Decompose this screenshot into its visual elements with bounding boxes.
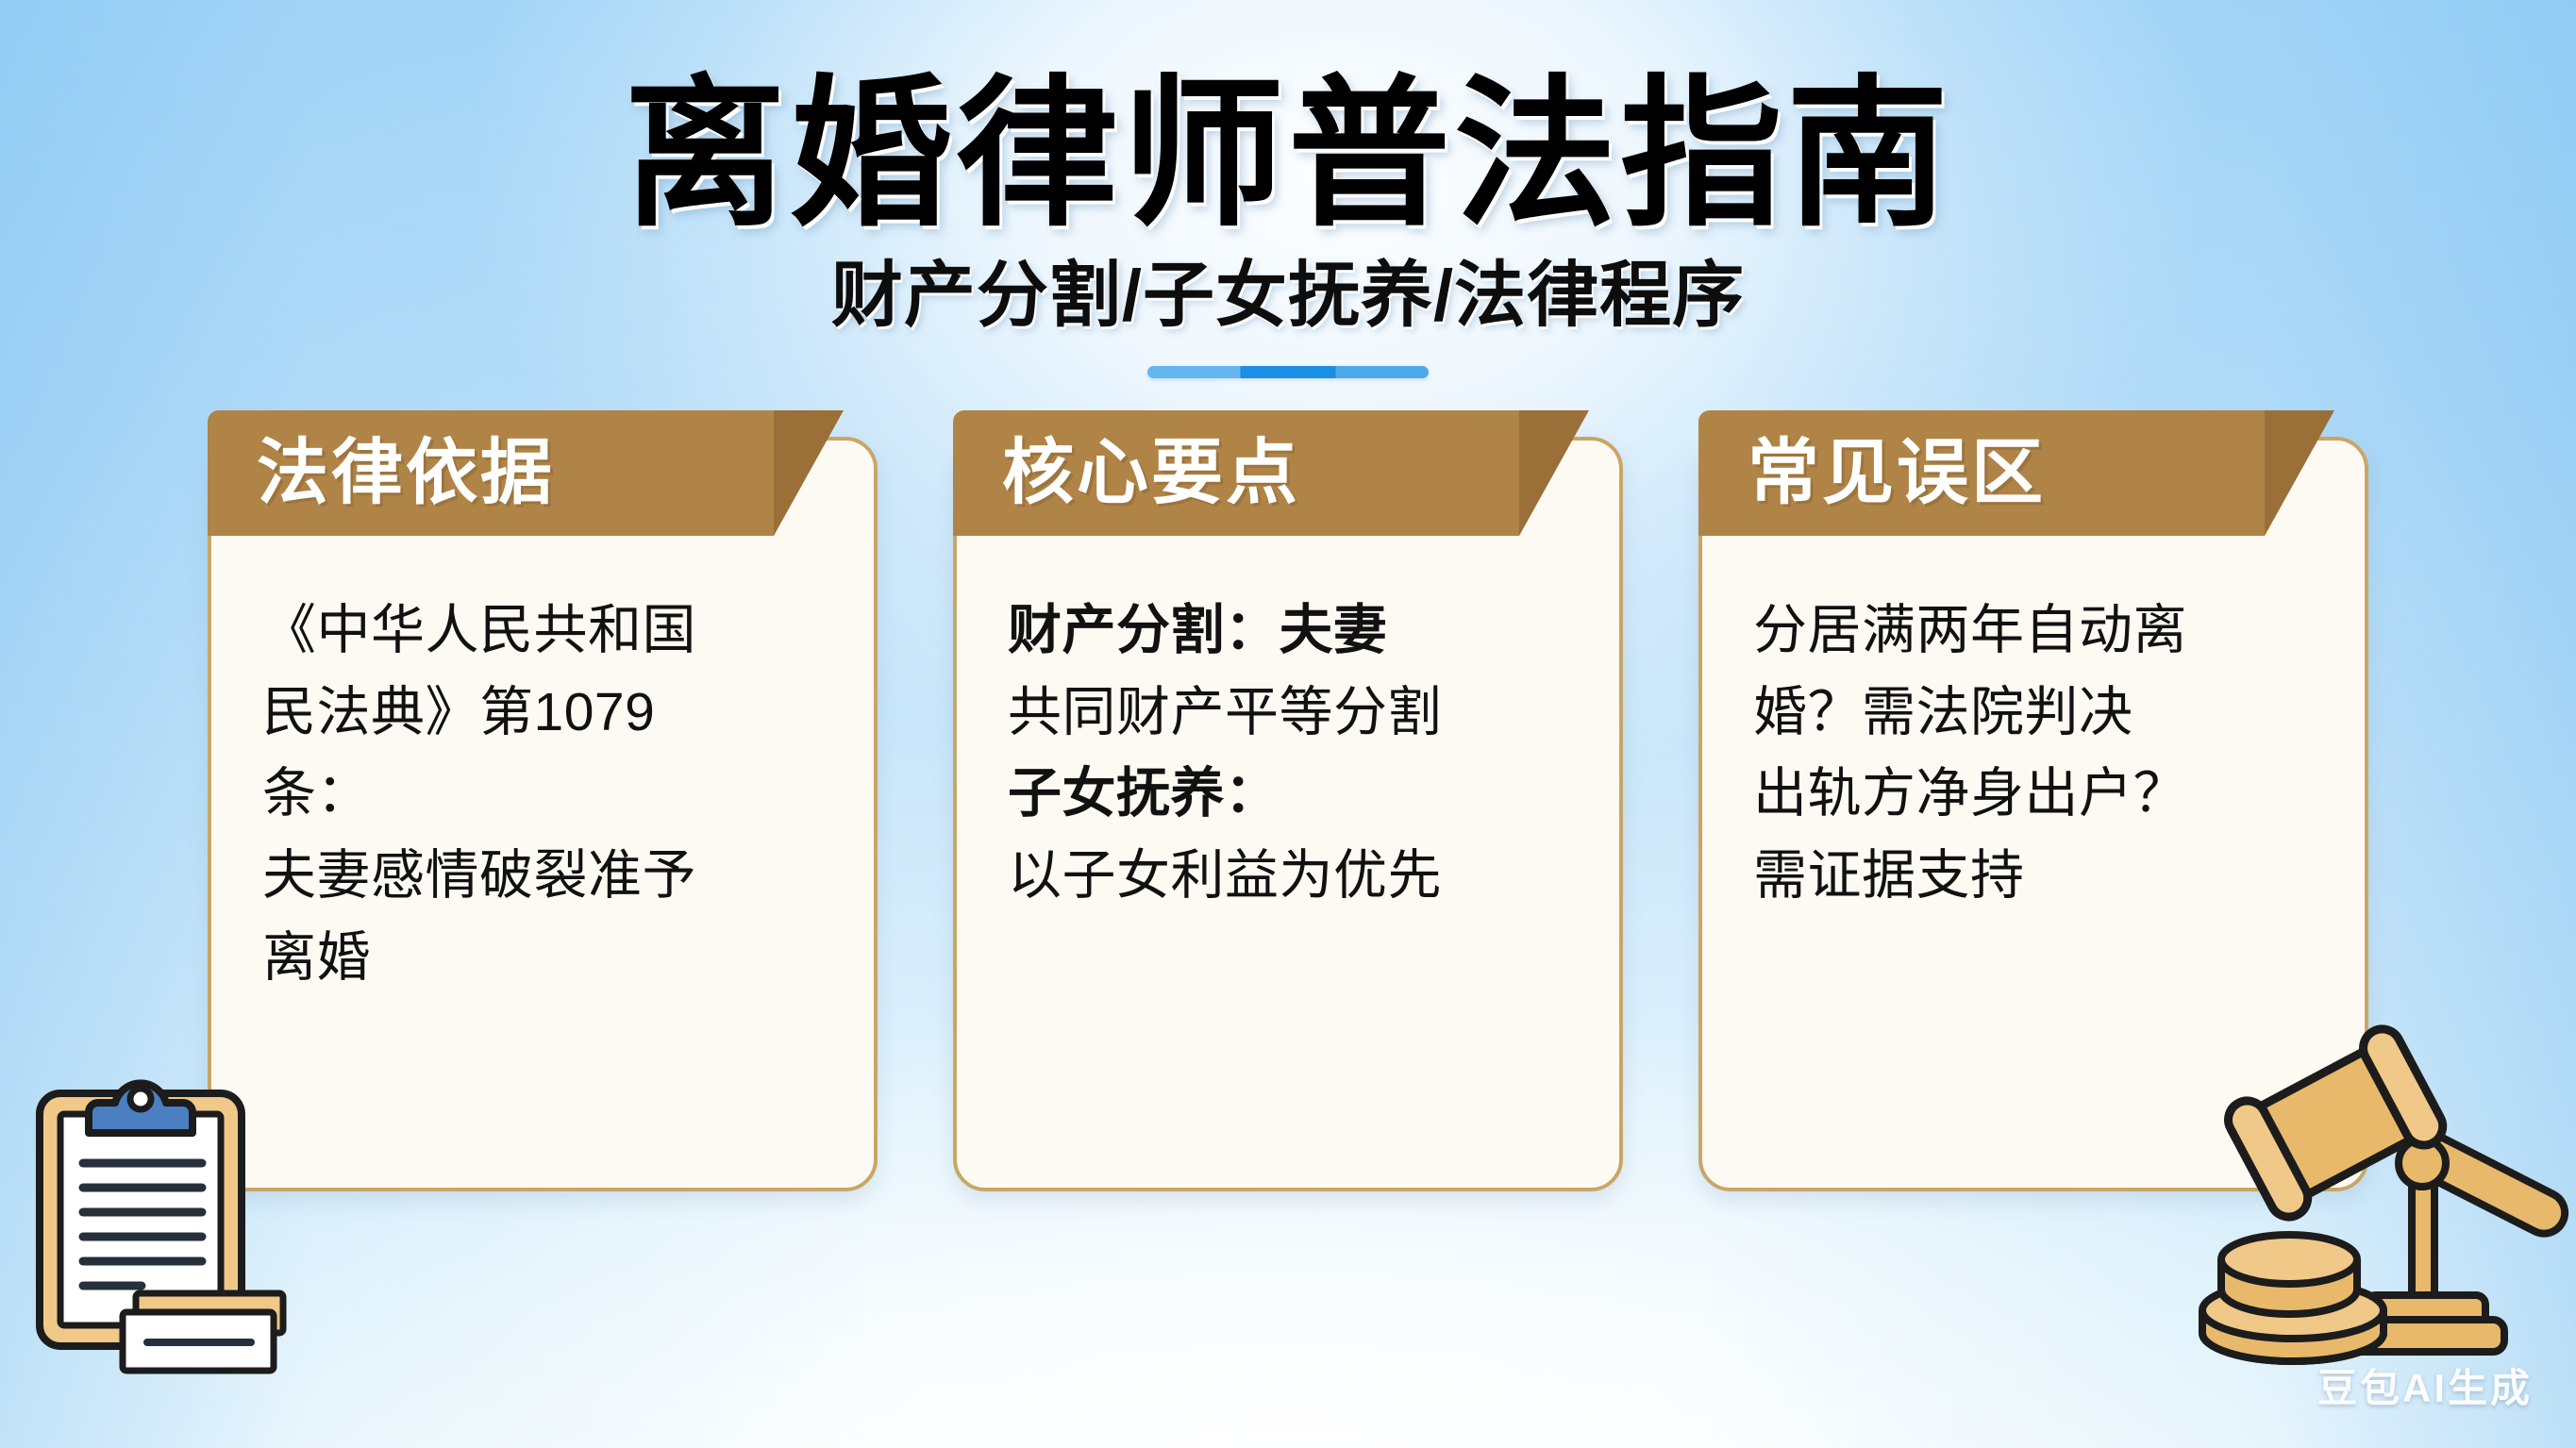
card-header-misconceptions: 常见误区 <box>1698 410 2265 536</box>
card-line: 条： <box>262 753 832 835</box>
card-line: 夫妻感情破裂准予 <box>262 835 832 917</box>
card-line: 民法典》第1079 <box>262 672 832 754</box>
judge-gavel-icon <box>2191 1012 2570 1390</box>
watermark-label: 豆包AI生成 <box>2317 1356 2533 1414</box>
clipboard-document-icon <box>25 1061 308 1393</box>
card-line: 分居满两年自动离 <box>1753 590 2323 672</box>
info-card-legal-basis[interactable]: 法律依据 《中华人民共和国 民法典》第1079 条： 夫妻感情破裂准予 离婚 <box>208 437 878 1191</box>
card-line: 出轨方净身出户？ <box>1753 753 2323 835</box>
card-line: 财产分割：夫妻 <box>1008 590 1578 672</box>
card-line: 共同财产平等分割 <box>1008 672 1578 754</box>
info-card-core-points[interactable]: 核心要点 财产分割：夫妻 共同财产平等分割 子女抚养： 以子女利益为优先 <box>953 437 1623 1191</box>
poster-root: 离婚律师普法指南 财产分割/子女抚养/法律程序 法律依据 《中华人民共和国 民法… <box>0 0 2576 1448</box>
card-title-legal-basis: 法律依据 <box>257 438 555 509</box>
card-line: 离婚 <box>262 917 832 999</box>
card-line: 婚？需法院判决 <box>1753 672 2323 754</box>
folded-corner-icon <box>2265 410 2334 536</box>
card-line: 需证据支持 <box>1753 835 2323 917</box>
card-line: 以子女利益为优先 <box>1008 835 1578 917</box>
card-title-core-points: 核心要点 <box>1002 438 1300 509</box>
card-row: 法律依据 《中华人民共和国 民法典》第1079 条： 夫妻感情破裂准予 离婚 核… <box>0 437 2576 1191</box>
folded-corner-icon <box>774 410 844 536</box>
card-title-misconceptions: 常见误区 <box>1748 438 2046 509</box>
card-line: 《中华人民共和国 <box>262 590 832 672</box>
card-header-core-points: 核心要点 <box>953 410 1519 536</box>
card-line: 子女抚养： <box>1008 753 1578 835</box>
poster-header: 离婚律师普法指南 财产分割/子女抚养/法律程序 <box>0 0 2576 378</box>
card-header-legal-basis: 法律依据 <box>208 410 774 536</box>
page-subtitle: 财产分割/子女抚养/法律程序 <box>0 260 2576 332</box>
page-title: 离婚律师普法指南 <box>0 74 2576 236</box>
title-divider <box>1147 366 1429 378</box>
folded-corner-icon <box>1519 410 1589 536</box>
